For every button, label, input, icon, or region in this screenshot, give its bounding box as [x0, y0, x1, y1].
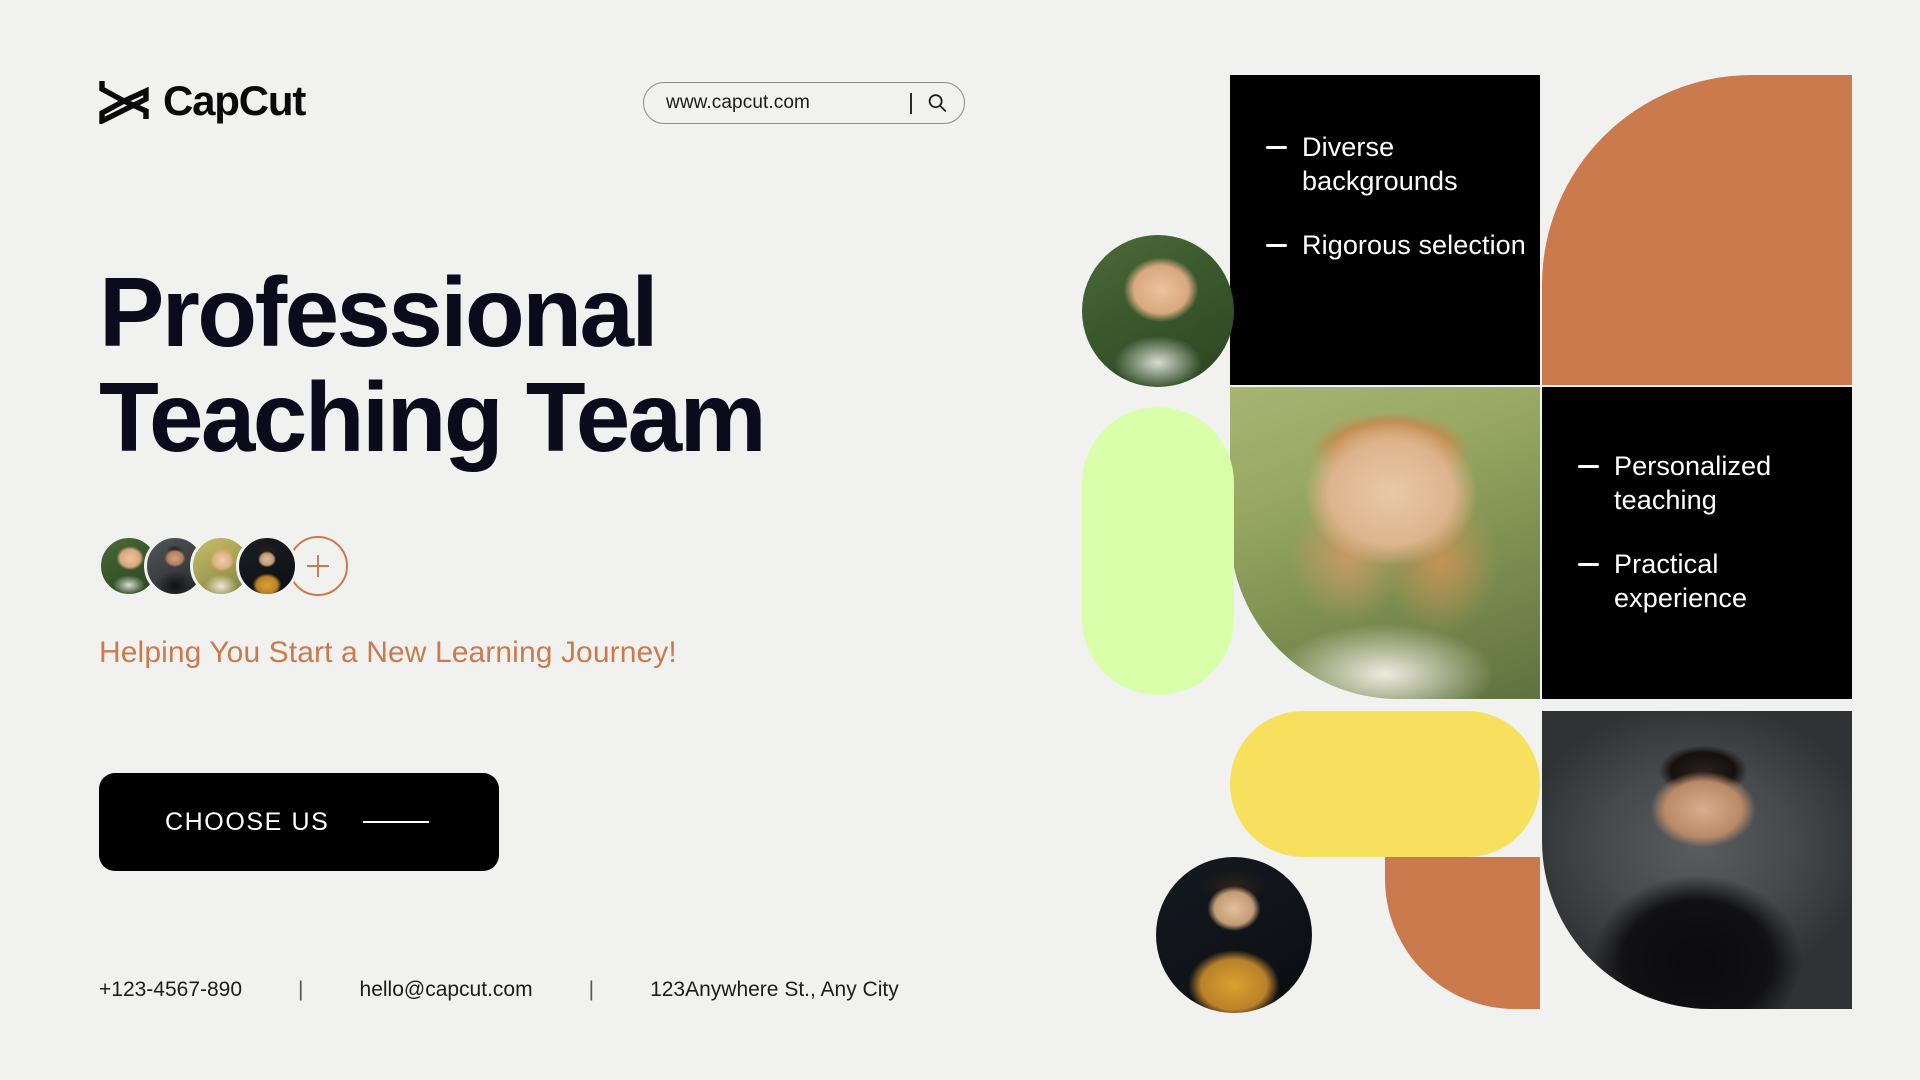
- feature-item: Rigorous selection: [1266, 228, 1539, 262]
- dash-icon: [1578, 465, 1599, 468]
- divider-icon: [910, 93, 912, 114]
- search-icon[interactable]: [926, 92, 948, 114]
- capcut-logo-icon: [99, 78, 149, 124]
- feature-label: Practical experience: [1614, 547, 1851, 615]
- photo-avatar-man-glasses: [1156, 857, 1312, 1013]
- dash-icon: [1266, 244, 1287, 247]
- headline-line-2: Teaching Team: [99, 365, 959, 470]
- feature-collage: Diverse backgrounds Rigorous selection P…: [1230, 75, 1852, 1010]
- feature-label: Rigorous selection: [1302, 228, 1526, 262]
- team-avatar-group: [98, 533, 348, 599]
- feature-item: Diverse backgrounds: [1266, 130, 1539, 198]
- feature-label: Personalized teaching: [1614, 449, 1851, 517]
- feature-item: Personalized teaching: [1578, 449, 1851, 517]
- terracotta-block-top: [1542, 75, 1852, 385]
- feature-label: Diverse backgrounds: [1302, 130, 1539, 198]
- hero-tagline: Helping You Start a New Learning Journey…: [99, 636, 677, 670]
- photo-man-in-suit: [1542, 711, 1852, 1009]
- footer-separator-2: |: [589, 978, 594, 1002]
- brand-logo[interactable]: CapCut: [99, 78, 305, 124]
- page-title: Professional Teaching Team: [99, 260, 959, 470]
- choose-us-label: CHOOSE US: [165, 808, 329, 837]
- footer-separator-1: |: [298, 978, 303, 1002]
- feature-item: Practical experience: [1578, 547, 1851, 615]
- photo-avatar-woman-outdoors: [1082, 235, 1234, 387]
- choose-us-button[interactable]: CHOOSE US: [99, 773, 499, 871]
- feature-panel-two: Personalized teaching Practical experien…: [1542, 387, 1852, 699]
- arrow-line-icon: [363, 821, 429, 823]
- brand-name: CapCut: [163, 80, 305, 122]
- headline-line-1: Professional: [99, 257, 656, 367]
- url-search-bar[interactable]: www.capcut.com: [643, 82, 965, 124]
- plus-icon: [304, 552, 332, 580]
- footer-email[interactable]: hello@capcut.com: [360, 978, 533, 1002]
- dash-icon: [1266, 146, 1287, 149]
- avatar-team-member-4[interactable]: [236, 535, 298, 597]
- feature-panel-one: Diverse backgrounds Rigorous selection: [1230, 75, 1540, 385]
- footer-phone[interactable]: +123-4567-890: [99, 978, 242, 1002]
- green-pill: [1082, 407, 1234, 695]
- yellow-pill: [1230, 711, 1540, 857]
- dash-icon: [1578, 563, 1599, 566]
- footer-contact-bar: +123-4567-890 | hello@capcut.com | 123An…: [99, 978, 899, 1002]
- terracotta-block-bottom: [1385, 857, 1540, 1009]
- photo-woman-with-hat: [1230, 387, 1540, 699]
- url-input[interactable]: www.capcut.com: [666, 92, 910, 114]
- footer-address[interactable]: 123Anywhere St., Any City: [650, 978, 899, 1002]
- page-root: CapCut www.capcut.com Professional Teach…: [0, 0, 1920, 1080]
